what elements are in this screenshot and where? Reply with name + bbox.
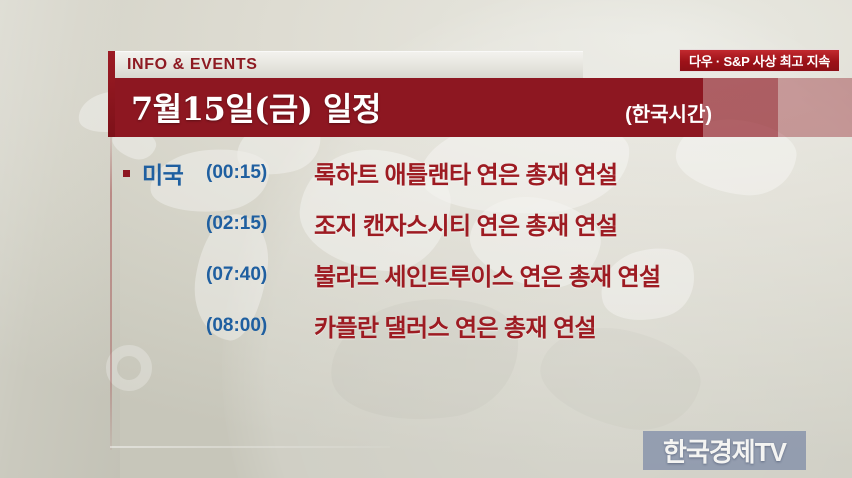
- bullet-cell: [108, 300, 124, 351]
- schedule-time: (07:40): [206, 264, 298, 286]
- schedule-time: (00:15): [206, 162, 298, 184]
- square-bullet-icon: [123, 170, 130, 177]
- schedule-event: 불라드 세인트루이스 연은 총재 연설: [314, 257, 838, 292]
- header-kicker-bar: INFO & EVENTS: [115, 51, 583, 78]
- list-item: 미국 (00:15) 록하트 애틀랜타 연은 총재 연설: [108, 147, 838, 198]
- schedule-country: 미국: [142, 156, 206, 190]
- schedule-list: 미국 (00:15) 록하트 애틀랜타 연은 총재 연설 (02:15) 조지 …: [108, 147, 838, 351]
- timezone-note: (한국시간): [625, 98, 712, 127]
- list-item: (02:15) 조지 캔자스시티 연은 총재 연설: [108, 198, 838, 249]
- station-logo: 한국경제TV: [643, 431, 806, 470]
- schedule-event: 카플란 댈러스 연은 총재 연설: [314, 308, 838, 343]
- list-item: (07:40) 불라드 세인트루이스 연은 총재 연설: [108, 249, 838, 300]
- station-logo-text: 한국경제TV: [663, 432, 786, 469]
- bullet-cell: [108, 249, 124, 300]
- schedule-time: (08:00): [206, 315, 298, 337]
- header-kicker-label: INFO & EVENTS: [127, 56, 257, 74]
- schedule-event: 조지 캔자스시티 연은 총재 연설: [314, 206, 838, 241]
- background-ring-decoration: [106, 345, 152, 391]
- broadcast-lower-third-screen: 다우 · S&P 사상 최고 지속 INFO & EVENTS 7월15일(금)…: [0, 0, 852, 478]
- page-title: 7월15일(금) 일정: [131, 84, 381, 130]
- bullet-cell: [108, 198, 124, 249]
- schedule-time: (02:15): [206, 213, 298, 235]
- bullet-cell: [108, 147, 124, 198]
- header-accent-spine: [108, 51, 115, 137]
- background-horizontal-rule: [110, 446, 390, 448]
- header: INFO & EVENTS 7월15일(금) 일정 (한국시간): [108, 51, 852, 137]
- title-bar-segment-fade: [778, 78, 852, 137]
- list-item: (08:00) 카플란 댈러스 연은 총재 연설: [108, 300, 838, 351]
- title-bar-segment-mid: [703, 78, 778, 137]
- schedule-event: 록하트 애틀랜타 연은 총재 연설: [314, 155, 838, 190]
- header-title-bar: 7월15일(금) 일정 (한국시간): [115, 78, 852, 137]
